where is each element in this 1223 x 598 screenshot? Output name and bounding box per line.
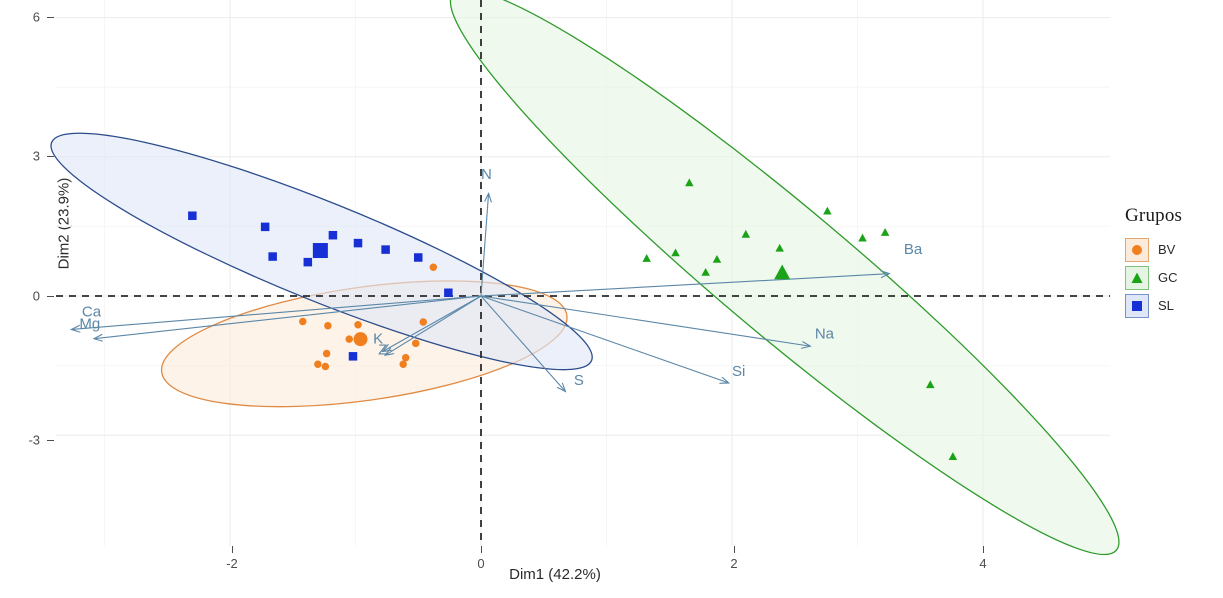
data-point-SL (188, 211, 197, 220)
variable-label-Na: Na (815, 326, 835, 343)
data-point-GC (642, 254, 651, 262)
data-point-SL (444, 289, 453, 298)
legend-item-BV[interactable]: BV (1125, 237, 1223, 262)
data-point-SL (381, 245, 390, 254)
data-point-SL (261, 223, 270, 232)
variable-label-Ba: Ba (904, 241, 923, 258)
variable-label-Z: Z (378, 341, 387, 358)
data-point-SL (354, 239, 363, 248)
data-point-BV (412, 340, 420, 348)
data-point-BV (420, 318, 428, 326)
data-point-SL (414, 253, 423, 262)
legend-key-triangle-icon (1125, 266, 1149, 290)
pca-biplot-figure: 6 3 0 -3 -2 0 2 4 Dim2 (23.9%) Dim1 (42.… (0, 0, 1223, 598)
data-point-SL (268, 252, 277, 261)
variable-label-S: S (574, 372, 584, 389)
data-point-BV (402, 354, 410, 362)
variable-label-Si: Si (732, 363, 745, 380)
legend-key-circle-icon (1125, 238, 1149, 262)
data-point-GC (858, 234, 867, 242)
data-point-SL (304, 258, 313, 267)
data-point-GC (881, 228, 890, 236)
legend-label: SL (1158, 298, 1174, 313)
legend-title: Grupos (1125, 205, 1223, 227)
data-point-BV (324, 322, 332, 330)
legend-key-square-icon (1125, 294, 1149, 318)
legend-item-SL[interactable]: SL (1125, 293, 1223, 318)
legend: Grupos BVGCSL (1125, 205, 1223, 321)
data-point-BV (345, 335, 353, 343)
data-point-BV (323, 350, 331, 358)
centroid-SL (313, 243, 328, 258)
legend-label: BV (1158, 242, 1175, 257)
data-point-BV (314, 360, 322, 368)
data-point-SL (329, 231, 338, 240)
plot-canvas: NBaNaSiSCaMgKZ (0, 0, 1223, 598)
variable-label-Mg: Mg (79, 315, 100, 332)
centroid-BV (354, 332, 368, 346)
data-point-BV (322, 363, 330, 371)
data-point-BV (399, 360, 407, 368)
data-point-SL (349, 352, 358, 361)
data-point-GC (823, 207, 832, 215)
variable-label-N: N (481, 166, 492, 183)
legend-item-GC[interactable]: GC (1125, 265, 1223, 290)
legend-label: GC (1158, 270, 1178, 285)
data-point-BV (354, 321, 362, 329)
data-point-BV (299, 318, 307, 326)
data-point-BV (430, 263, 438, 271)
